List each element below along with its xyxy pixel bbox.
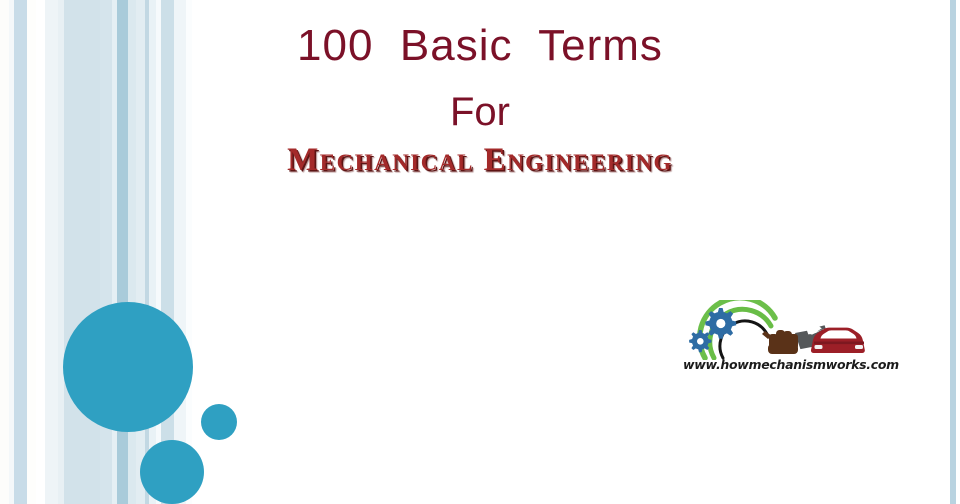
logo-mark xyxy=(683,300,873,360)
small-gear-icon xyxy=(689,330,711,352)
site-logo: www.howmechanismworks.com xyxy=(683,300,873,382)
logo-url-text: www.howmechanismworks.com xyxy=(683,357,873,372)
page-title: 100 Basic Terms xyxy=(0,18,960,74)
title-connector-word: For xyxy=(0,86,960,138)
small-circle xyxy=(201,404,237,440)
gear-icon xyxy=(705,308,736,339)
slide-subtitle: Mechanical Engineering xyxy=(0,140,960,180)
large-circle xyxy=(63,302,193,432)
medium-circle xyxy=(140,440,204,504)
slide-title-block: 100 Basic Terms For Mechanical Engineeri… xyxy=(0,18,960,180)
presentation-slide: 100 Basic Terms For Mechanical Engineeri… xyxy=(0,0,960,504)
